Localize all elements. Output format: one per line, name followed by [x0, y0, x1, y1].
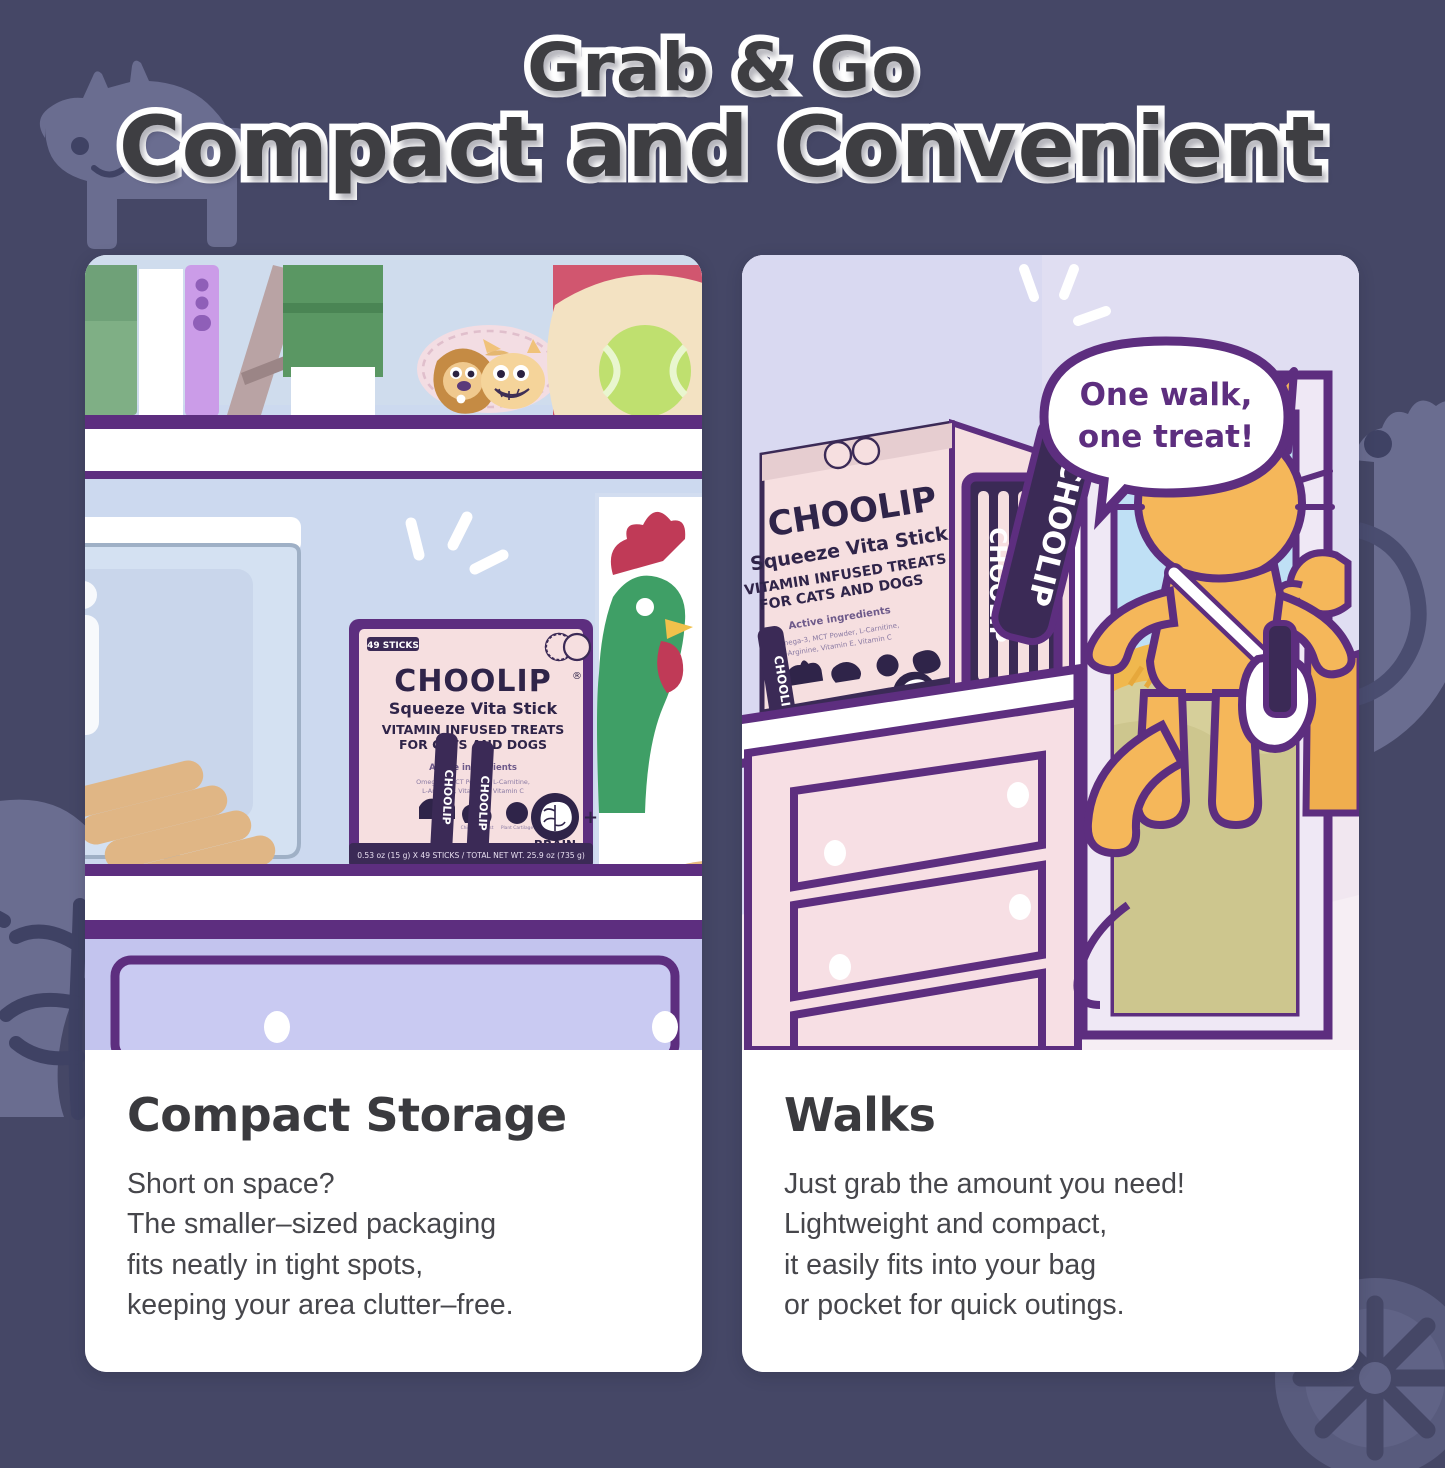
- svg-text:0.53 oz (15 g) X 49 STICKS / T: 0.53 oz (15 g) X 49 STICKS / TOTAL NET W…: [357, 851, 585, 860]
- card-title-compact-storage: Compact Storage: [127, 1092, 662, 1138]
- svg-text:+: +: [583, 807, 598, 828]
- page-title: Grab & Go Compact and Convenient: [0, 34, 1445, 191]
- card-compact-storage[interactable]: CHOOLIP CHOOLIP CHOOLIP: [85, 255, 702, 1372]
- card-body-compact-storage: Short on space? The smaller–sized packag…: [127, 1164, 662, 1326]
- card-walks[interactable]: CHOOLIP Squeeze Vita Stick VITAMIN INFUS…: [742, 255, 1359, 1372]
- body-line: it easily fits into your bag: [784, 1245, 1319, 1285]
- svg-text:49 STICKS: 49 STICKS: [367, 641, 419, 651]
- title-line-2: Compact and Convenient: [0, 105, 1445, 191]
- body-line: Lightweight and compact,: [784, 1204, 1319, 1244]
- caption-compact-storage: Compact Storage Short on space? The smal…: [85, 1050, 702, 1372]
- body-line: Just grab the amount you need!: [784, 1164, 1319, 1204]
- body-line: Short on space?: [127, 1164, 662, 1204]
- doorway-scene: CHOOLIP Squeeze Vita Stick VITAMIN INFUS…: [742, 255, 1359, 1050]
- infographic-root: Grab & Go Compact and Convenient: [0, 0, 1445, 1445]
- title-line-1: Grab & Go: [0, 34, 1445, 101]
- chicken-watermark: [1348, 340, 1445, 770]
- shelf-scene: CHOOLIP CHOOLIP CHOOLIP: [85, 255, 702, 1050]
- card-body-walks: Just grab the amount you need! Lightweig…: [784, 1164, 1319, 1326]
- svg-text:VITAMIN INFUSED TREATS: VITAMIN INFUSED TREATS: [382, 722, 564, 737]
- svg-text:Squeeze Vita Stick: Squeeze Vita Stick: [389, 699, 558, 718]
- body-line: fits neatly in tight spots,: [127, 1245, 662, 1285]
- svg-text:CHOOLIP: CHOOLIP: [394, 664, 551, 699]
- speech-line-2: one treat!: [1078, 419, 1254, 455]
- body-line: or pocket for quick outings.: [784, 1285, 1319, 1325]
- caption-walks: Walks Just grab the amount you need! Lig…: [742, 1050, 1359, 1372]
- svg-text:®: ®: [572, 671, 582, 682]
- body-line: keeping your area clutter–free.: [127, 1285, 662, 1325]
- body-line: The smaller–sized packaging: [127, 1204, 662, 1244]
- speech-line-1: One walk,: [1080, 377, 1253, 413]
- svg-text:Plant Cartilage: Plant Cartilage: [501, 825, 534, 831]
- card-title-walks: Walks: [784, 1092, 1319, 1138]
